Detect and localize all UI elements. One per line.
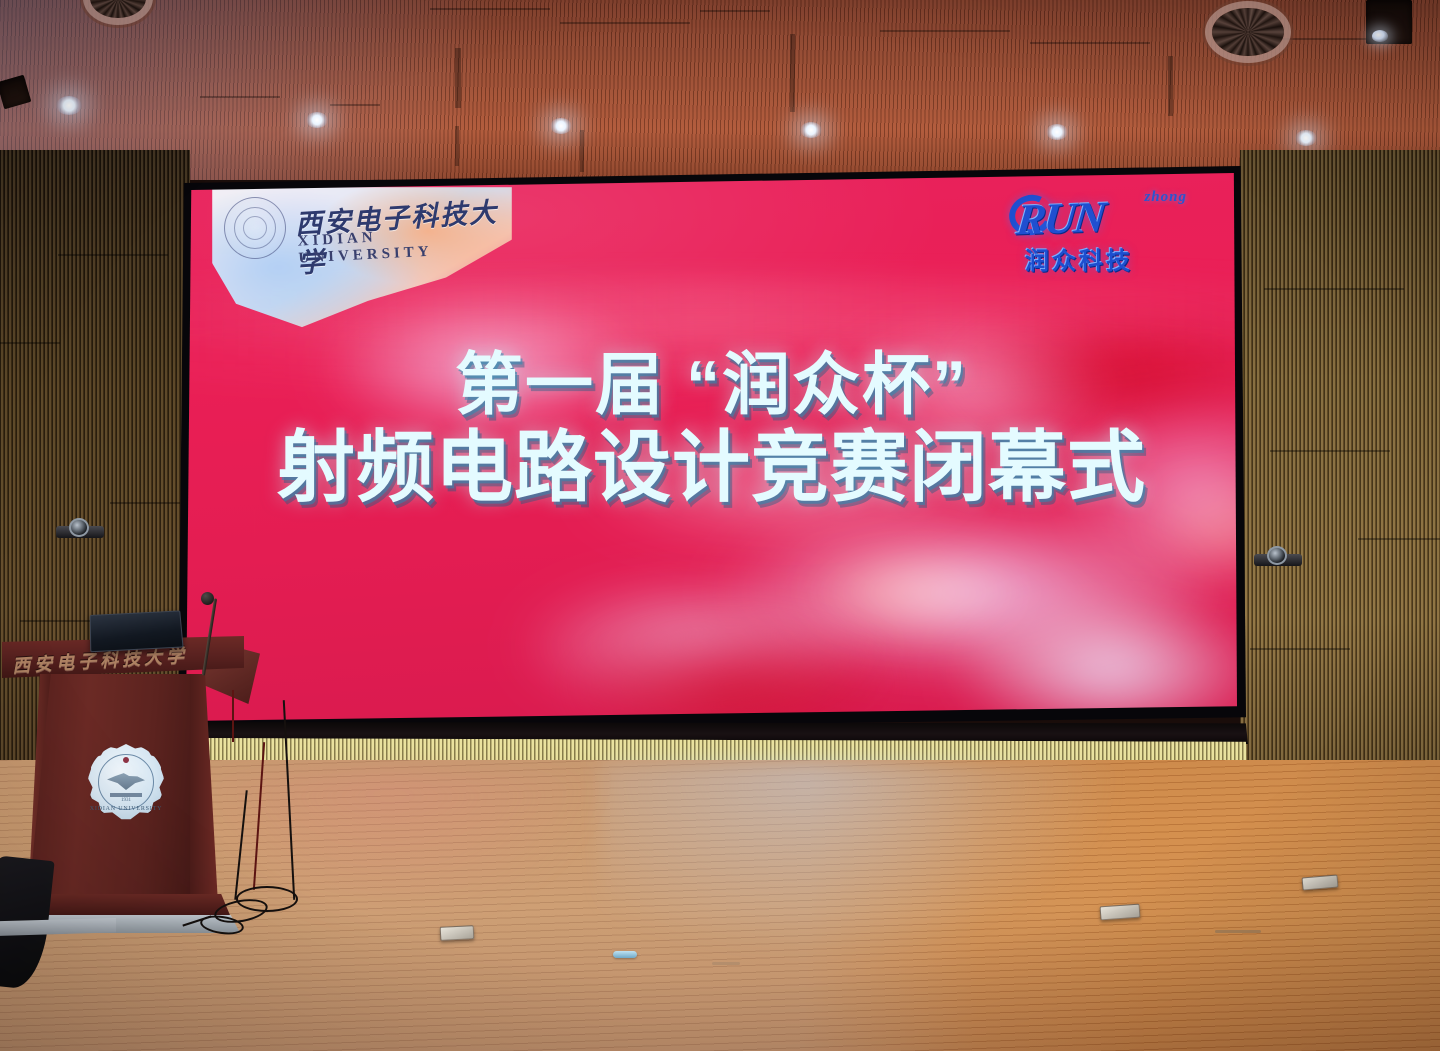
emblem-english-text: XIDIAN UNIVERSITY xyxy=(88,806,164,812)
camera-lens-icon xyxy=(69,518,89,537)
floor-seam xyxy=(712,962,740,965)
floor-sticker xyxy=(613,951,637,958)
floor-socket-cover[interactable] xyxy=(1100,904,1141,921)
ceiling-spotlight xyxy=(1372,30,1388,42)
floor-light-reflection xyxy=(600,760,1120,960)
runzhong-superscript: zhong xyxy=(1144,189,1187,206)
banner-title-line2: 射频电路设计竞赛闭幕式 xyxy=(186,428,1237,508)
ceiling-downlight xyxy=(550,118,572,134)
runzhong-wordmark: RUN xyxy=(1014,191,1107,245)
ceiling-downlight xyxy=(1295,130,1317,146)
cable xyxy=(232,690,234,742)
screen-logo-runzhong: RUN zhong 润众科技 xyxy=(1011,191,1191,279)
banner-title: 第一届 “润众杯” 射频电路设计竞赛闭幕式 xyxy=(186,351,1237,508)
ceiling-downlight xyxy=(56,96,82,115)
wall-camera-right xyxy=(1254,546,1302,568)
ceiling-air-vent xyxy=(1212,8,1284,56)
microphone-head[interactable] xyxy=(201,592,214,605)
screen-logo-xidian: 西安电子科技大学 XIDIAN UNIVERSITY xyxy=(212,183,512,333)
podium-monitor[interactable] xyxy=(90,610,184,652)
camera-lens-icon xyxy=(1267,546,1287,565)
banner-title-line1: 第一届 “润众杯” xyxy=(186,351,1237,420)
emblem-red-dot-icon xyxy=(123,757,129,763)
ceiling-downlight xyxy=(1046,124,1068,140)
floor-seam xyxy=(1215,930,1261,933)
emblem-year: 1931 xyxy=(88,798,164,803)
emblem-book-bar-icon xyxy=(110,793,142,797)
runzhong-chinese: 润众科技 xyxy=(1025,241,1133,276)
auditorium-scene: 西安电子科技大学 XIDIAN UNIVERSITY RUN zhong 润众科… xyxy=(0,0,1440,1051)
podium-edge-right xyxy=(190,674,218,904)
wall-camera-left xyxy=(56,518,104,540)
led-screen[interactable]: 西安电子科技大学 XIDIAN UNIVERSITY RUN zhong 润众科… xyxy=(186,173,1237,721)
podium-university-emblem: 1931 XIDIAN UNIVERSITY xyxy=(88,744,164,820)
xidian-seal-icon xyxy=(224,197,286,259)
ceiling-downlight xyxy=(800,122,822,138)
floor-socket-cover[interactable] xyxy=(440,925,475,941)
ceiling-downlight xyxy=(306,112,328,128)
